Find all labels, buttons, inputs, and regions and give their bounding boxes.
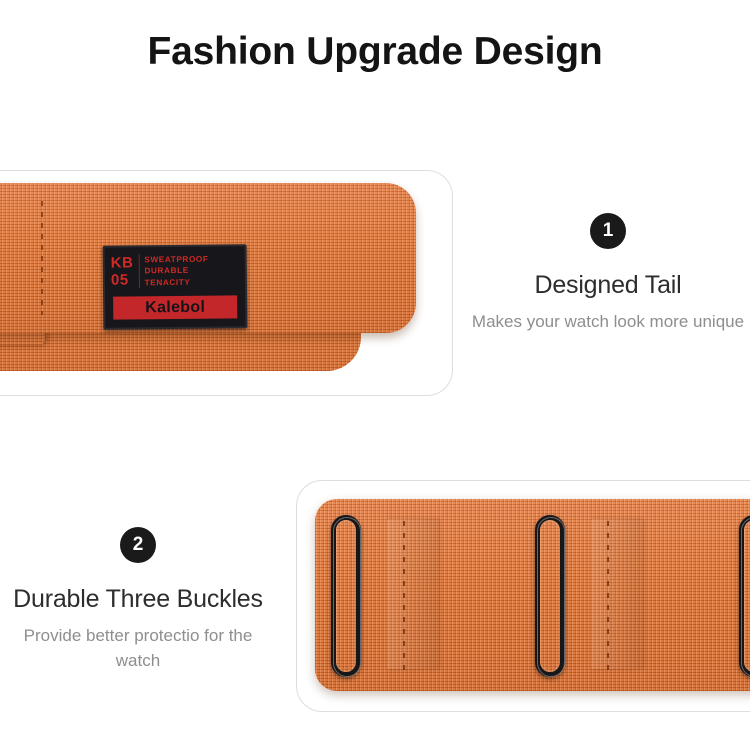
feature-badge-1: 1 <box>590 213 626 249</box>
product-photo-card-buckles <box>296 480 750 712</box>
keeper-stitch-2 <box>607 521 609 671</box>
label-feature-3: TENACITY <box>145 276 209 288</box>
buckle-loop-2 <box>535 515 565 677</box>
label-code-line-2: 05 <box>111 271 134 288</box>
feature-body-2: Provide better protectio for the watch <box>0 623 276 673</box>
page-title: Fashion Upgrade Design <box>0 30 750 74</box>
feature-heading-2: Durable Three Buckles <box>0 585 276 614</box>
keeper-band-1 <box>387 519 439 669</box>
buckle-loop-1 <box>331 515 361 677</box>
label-top-row: KB 05 SWEATPROOF DURABLE TENACITY <box>105 246 245 291</box>
brand-name: Kalebol <box>145 298 205 317</box>
feature-block-2: 2 Durable Three Buckles Provide better p… <box>0 527 276 673</box>
brand-label: KB 05 SWEATPROOF DURABLE TENACITY Kalebo… <box>103 244 248 330</box>
strap-buckle-section <box>315 499 750 691</box>
feature-block-1: 1 Designed Tail Makes your watch look mo… <box>466 213 750 334</box>
keeper-band-2 <box>591 519 643 669</box>
strap-stitch-line <box>41 201 43 315</box>
label-product-code: KB 05 <box>111 254 140 288</box>
feature-badge-2: 2 <box>120 527 156 563</box>
feature-body-1: Makes your watch look more unique <box>466 309 750 334</box>
keeper-stitch-1 <box>403 521 405 671</box>
label-brand-bar: Kalebol <box>113 295 237 319</box>
label-feature-2: DURABLE <box>144 265 208 277</box>
label-code-line-1: KB <box>111 254 134 271</box>
feature-heading-1: Designed Tail <box>466 271 750 300</box>
label-feature-1: SWEATPROOF <box>144 253 208 265</box>
buckle-loop-3 <box>739 515 750 677</box>
label-feature-list: SWEATPROOF DURABLE TENACITY <box>139 253 208 288</box>
